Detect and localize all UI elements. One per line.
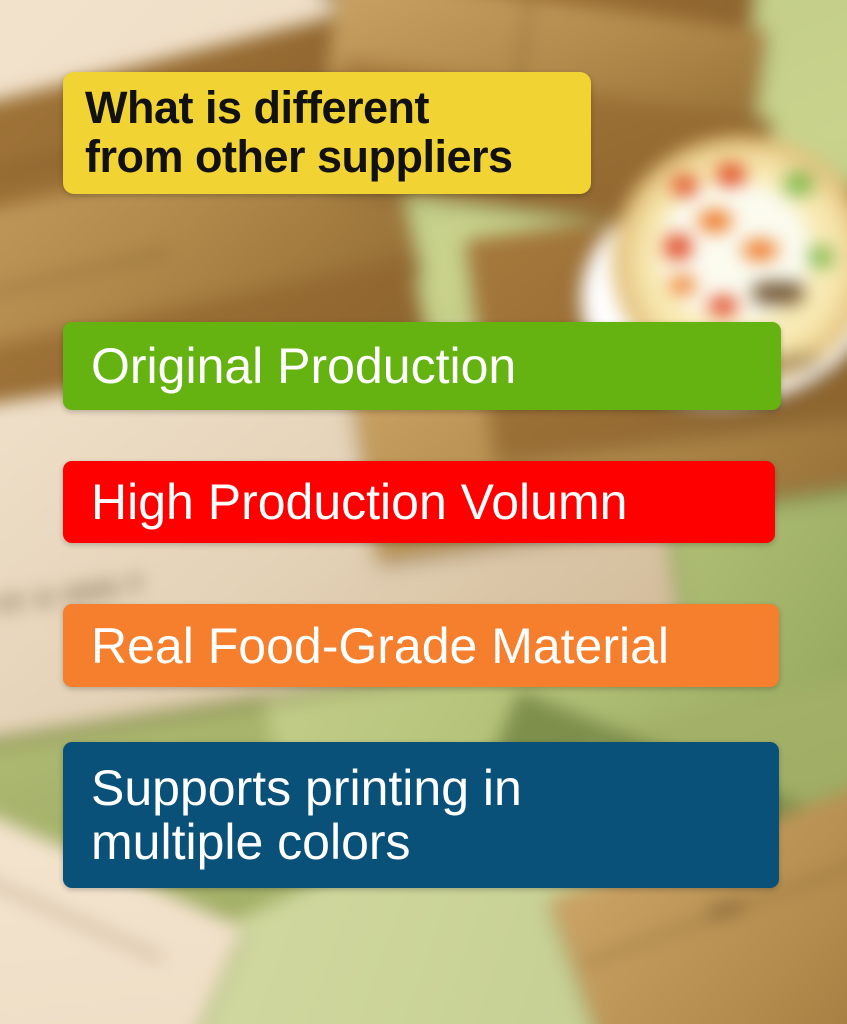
feature-banner-multicolor-printing: Supports printing in multiple colors (63, 742, 779, 888)
pizza-topping-pepper (670, 276, 696, 294)
headline-banner: What is different from other suppliers (63, 72, 591, 194)
feature-text-food-grade-material: Real Food-Grade Material (63, 619, 669, 673)
promo-graphic: A UbG-MU YF-YF A UbG-Y bw What is differ… (0, 0, 847, 1024)
pizza-topping-green-pepper (808, 246, 834, 268)
pizza-topping-mushroom (752, 282, 804, 304)
pizza-topping-tomato (672, 176, 698, 196)
feature-text-original-production: Original Production (63, 339, 516, 393)
feature-text-multicolor-printing: Supports printing in multiple colors (63, 761, 522, 869)
pizza-topping-tomato (664, 234, 692, 260)
headline-text: What is different from other suppliers (63, 84, 513, 181)
feature-banner-high-production-volume: High Production Volumn (63, 461, 775, 543)
feature-banner-original-production: Original Production (63, 322, 781, 410)
pizza-topping-tomato (708, 296, 738, 316)
feature-banner-food-grade-material: Real Food-Grade Material (63, 604, 779, 687)
pizza-topping-pepper (742, 240, 778, 260)
feature-text-high-production-volume: High Production Volumn (63, 475, 627, 529)
pizza-topping-tomato (716, 164, 746, 186)
pizza-topping-green-pepper (784, 172, 814, 196)
pizza-topping-pepper (698, 210, 732, 232)
